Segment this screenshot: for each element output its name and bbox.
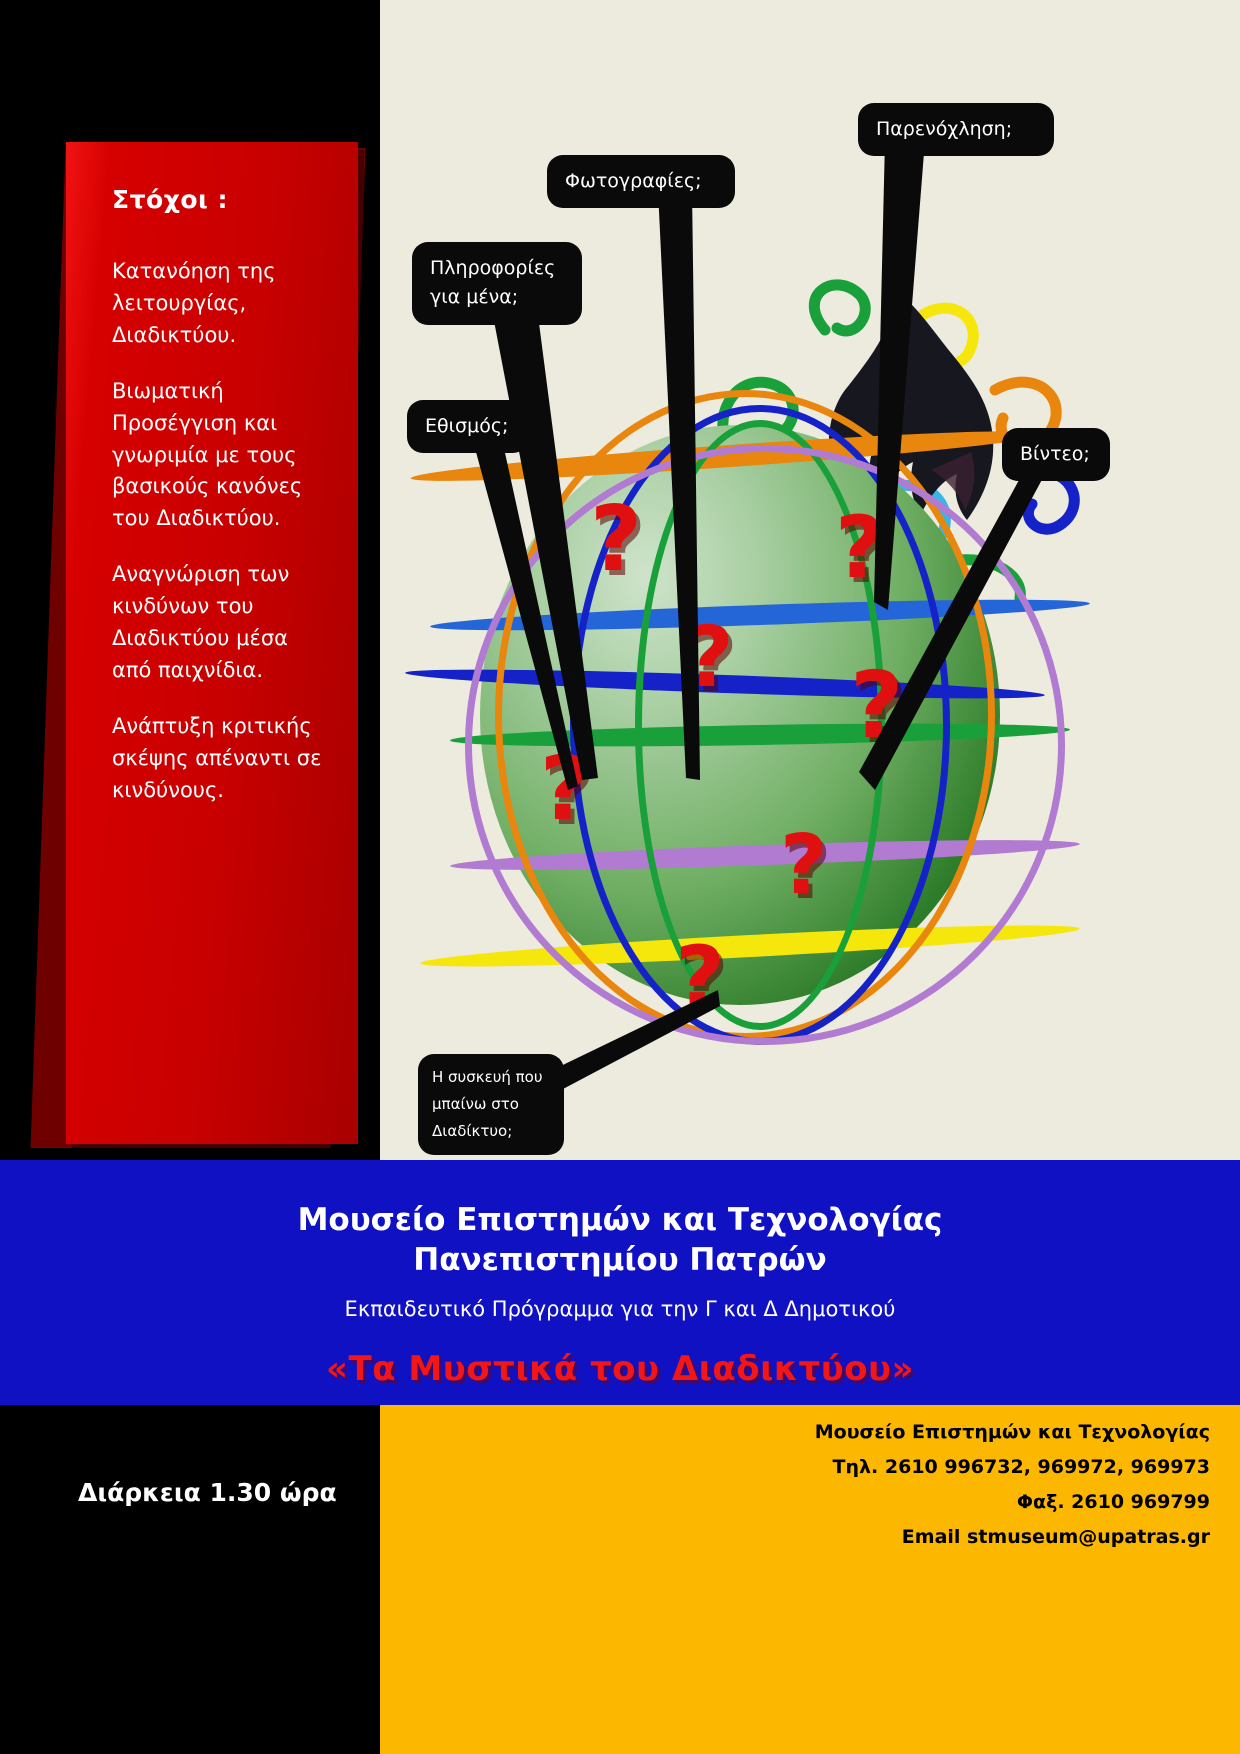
contact-org: Μουσείο Επιστημών και Τεχνολογίας — [815, 1415, 1210, 1450]
contact-box: Μουσείο Επιστημών και Τεχνολογίας Τηλ. 2… — [380, 1405, 1240, 1754]
bubble-tail-device — [540, 990, 720, 1100]
museum-title-line2: Πανεπιστημίου Πατρών — [0, 1240, 1240, 1280]
goal-item: Κατανόηση της λειτουργίας, Διαδικτύου. — [112, 256, 322, 352]
goals-heading: Στόχοι : — [112, 185, 322, 214]
goal-item: Αναγνώριση των κινδύνων του Διαδικτύου μ… — [112, 559, 322, 687]
bubble-info-text: Πληροφορίες για μένα; — [430, 257, 555, 308]
bubble-photos[interactable]: Φωτογραφίες; — [547, 155, 735, 208]
contact-phone: Τηλ. 2610 996732, 969972, 969973 — [815, 1450, 1210, 1485]
blue-footer-band: Μουσείο Επιστημών και Τεχνολογίας Πανεπι… — [0, 1160, 1240, 1405]
bubble-addiction[interactable]: Εθισμός; — [407, 400, 529, 453]
bubble-device-text: Η συσκευή που μπαίνω στο Διαδίκτυο; — [432, 1068, 543, 1140]
question-mark: ? — [780, 825, 828, 907]
contact-fax: Φαξ. 2610 969799 — [815, 1485, 1210, 1520]
program-title: «Τα Μυστικά του Διαδικτύου» — [0, 1321, 1240, 1389]
bubble-addiction-text: Εθισμός; — [425, 415, 508, 437]
program-subtitle: Εκπαιδευτικό Πρόγραμμα για την Γ και Δ Δ… — [0, 1281, 1240, 1321]
bubble-photos-text: Φωτογραφίες; — [565, 170, 702, 192]
goals-content: Στόχοι : Κατανόηση της λειτουργίας, Διαδ… — [112, 185, 322, 831]
bubble-harassment-text: Παρενόχληση; — [876, 118, 1012, 140]
bubble-tail-video — [855, 460, 1045, 790]
contact-details: Μουσείο Επιστημών και Τεχνολογίας Τηλ. 2… — [815, 1415, 1210, 1556]
bubble-video[interactable]: Βίντεο; — [1002, 428, 1110, 481]
bottom-black-background — [0, 1405, 380, 1754]
poster-root: Στόχοι : Κατανόηση της λειτουργίας, Διαδ… — [0, 0, 1240, 1754]
bubble-info-about-me[interactable]: Πληροφορίες για μένα; — [412, 242, 582, 325]
museum-title-line1: Μουσείο Επιστημών και Τεχνολογίας — [0, 1200, 1240, 1240]
bubble-video-text: Βίντεο; — [1020, 443, 1090, 465]
bubble-tail-addiction — [470, 430, 600, 790]
bubble-harassment[interactable]: Παρενόχληση; — [858, 103, 1054, 156]
contact-email[interactable]: Email stmuseum@upatras.gr — [815, 1520, 1210, 1555]
bubble-device[interactable]: Η συσκευή που μπαίνω στο Διαδίκτυο; — [418, 1054, 564, 1155]
goal-item: Ανάπτυξη κριτικής σκέψης απέναντι σε κιν… — [112, 711, 322, 807]
goal-item: Βιωματική Προσέγγιση και γνωριμία με του… — [112, 376, 322, 536]
museum-title: Μουσείο Επιστημών και Τεχνολογίας Πανεπι… — [0, 1160, 1240, 1281]
duration-label: Διάρκεια 1.30 ώρα — [78, 1478, 337, 1507]
